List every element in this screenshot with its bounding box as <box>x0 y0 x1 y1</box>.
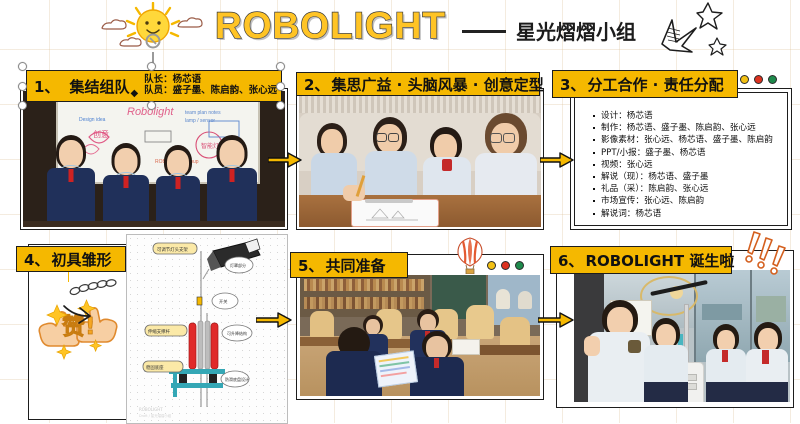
panel-2-title: 集思广益 · 头脑风暴 · 创意定型 <box>331 74 543 95</box>
panel-6-title: ROBOLIGHT 诞生啦 <box>585 250 734 271</box>
panel-1-title: 集结组队 <box>69 76 129 97</box>
hot-air-balloon-icon <box>455 236 485 279</box>
selection-handle-bl[interactable] <box>18 101 27 110</box>
panel-4-label[interactable]: 4、 初具雏形 <box>16 246 126 272</box>
panel-1-member-list: 队员：盛子墨、陈启韵、张心远 <box>144 86 277 97</box>
window-dot-yellow[interactable] <box>740 75 749 84</box>
panel-6-label[interactable]: 6、 ROBOLIGHT 诞生啦 <box>550 246 732 274</box>
panel-3-label[interactable]: 3、 分工合作 · 责任分配 <box>552 70 738 98</box>
window-dot-red[interactable] <box>754 75 763 84</box>
selection-handle-mr[interactable] <box>276 82 285 91</box>
panel-3-title: 分工合作 · 责任分配 <box>587 74 723 95</box>
svg-text:稳固底座: 稳固底座 <box>146 364 164 371</box>
panel-4-connector <box>68 272 69 282</box>
selection-handle-tc[interactable] <box>147 62 156 71</box>
panel-4-number: 4、 <box>24 249 49 270</box>
svg-text:Design idea: Design idea <box>79 117 106 123</box>
team-name: 星光熠熠小组 <box>516 16 636 45</box>
selection-handle-tr[interactable] <box>276 62 285 71</box>
role-item: 影像素材：张心远、杨芯语、盛子墨、陈启韵 <box>592 134 792 146</box>
svg-text:Draft / 星光熠熠小组: Draft / 星光熠熠小组 <box>139 413 172 418</box>
role-item: PPT/小报：盛子墨、杨芯语 <box>592 147 792 159</box>
arrow-panel4-to-panel5 <box>256 310 292 335</box>
svg-text:灯罩部分: 灯罩部分 <box>230 262 246 268</box>
title-divider <box>462 30 506 33</box>
panel-3-window-dots[interactable] <box>740 75 777 84</box>
stars-icon <box>652 0 732 58</box>
arrow-panel2-to-panel3 <box>540 150 574 175</box>
role-item: 解说（现）：杨芯语、盛子墨 <box>592 171 792 183</box>
panel-3-role-list: 设计：杨芯语 制作：杨芯语、盛子墨、陈启韵、张心远 影像素材：张心远、杨芯语、盛… <box>592 110 792 220</box>
panel-5-label[interactable]: 5、 共同准备 <box>290 252 408 278</box>
svg-text:team plan notes: team plan notes <box>185 110 221 116</box>
svg-text:防滑底盘设计: 防滑底盘设计 <box>225 376 249 382</box>
panel-4-title: 初具雏形 <box>51 249 111 270</box>
role-item: 礼品（采）：陈启韵、张心远 <box>592 183 792 195</box>
selection-handle-tl[interactable] <box>18 62 27 71</box>
panel-5-window-dots[interactable] <box>487 261 524 270</box>
role-item: 视频：张心远 <box>592 159 792 171</box>
svg-text:ROBOLIGHT: ROBOLIGHT <box>139 407 163 412</box>
window-dot-green[interactable] <box>515 261 524 270</box>
curved-arrow-doodle <box>62 300 96 333</box>
panel-1-label[interactable]: 1、 集结组队 ◆ 队长：杨芯语 队员：盛子墨、陈启韵、张心远 <box>26 70 282 102</box>
panel-5-title: 共同准备 <box>325 255 385 276</box>
role-item: 解说词：杨芯语 <box>592 208 792 220</box>
svg-text:可升降结构: 可升降结构 <box>227 330 247 336</box>
panel-5-photo <box>300 275 540 396</box>
window-dot-yellow[interactable] <box>487 261 496 270</box>
selection-handle-ml[interactable] <box>18 82 27 91</box>
selection-handle-br[interactable] <box>276 101 285 110</box>
svg-text:开关: 开关 <box>219 298 227 305</box>
panel-1-members: 队长：杨芯语 队员：盛子墨、陈启韵、张心远 <box>144 75 277 96</box>
panel-6-photo <box>574 270 790 402</box>
role-item: 市场宣传：张心远、陈启韵 <box>592 195 792 207</box>
svg-text:伸缩支撑杆: 伸缩支撑杆 <box>148 328 171 335</box>
role-list-items: 设计：杨芯语 制作：杨芯语、盛子墨、陈启韵、张心远 影像素材：张心远、杨芯语、盛… <box>592 110 792 220</box>
slide-canvas: ROBOLIGHT 星光熠熠小组 <box>0 0 800 423</box>
role-item: 设计：杨芯语 <box>592 110 792 122</box>
panel-2-number: 2、 <box>304 74 329 95</box>
slide-header: ROBOLIGHT 星光熠熠小组 <box>0 0 800 62</box>
panel-2-photo <box>299 91 541 227</box>
arrow-panel1-to-panel2 <box>268 150 302 175</box>
panel-1-bullet: ◆ <box>130 88 138 99</box>
panel-6-number: 6、 <box>558 250 583 271</box>
role-item: 制作：杨芯语、盛子墨、陈启韵、张心远 <box>592 122 792 134</box>
window-dot-green[interactable] <box>768 75 777 84</box>
panel-1-photo: Robolight Design idea team plan notes la… <box>23 91 285 227</box>
panel-2-label[interactable]: 2、 集思广益 · 头脑风暴 · 创意定型 <box>296 72 540 96</box>
page-title: ROBOLIGHT <box>215 5 446 47</box>
exclamation-marks-icon <box>742 230 796 283</box>
arrow-panel5-to-panel6 <box>538 310 574 335</box>
window-dot-red[interactable] <box>501 261 510 270</box>
svg-text:可调节灯头支架: 可调节灯头支架 <box>157 246 188 253</box>
selection-handle-bc[interactable] <box>147 101 156 110</box>
panel-1-number: 1、 <box>34 76 59 97</box>
panel-5-number: 5、 <box>298 255 323 276</box>
panel-3-number: 3、 <box>560 74 585 95</box>
